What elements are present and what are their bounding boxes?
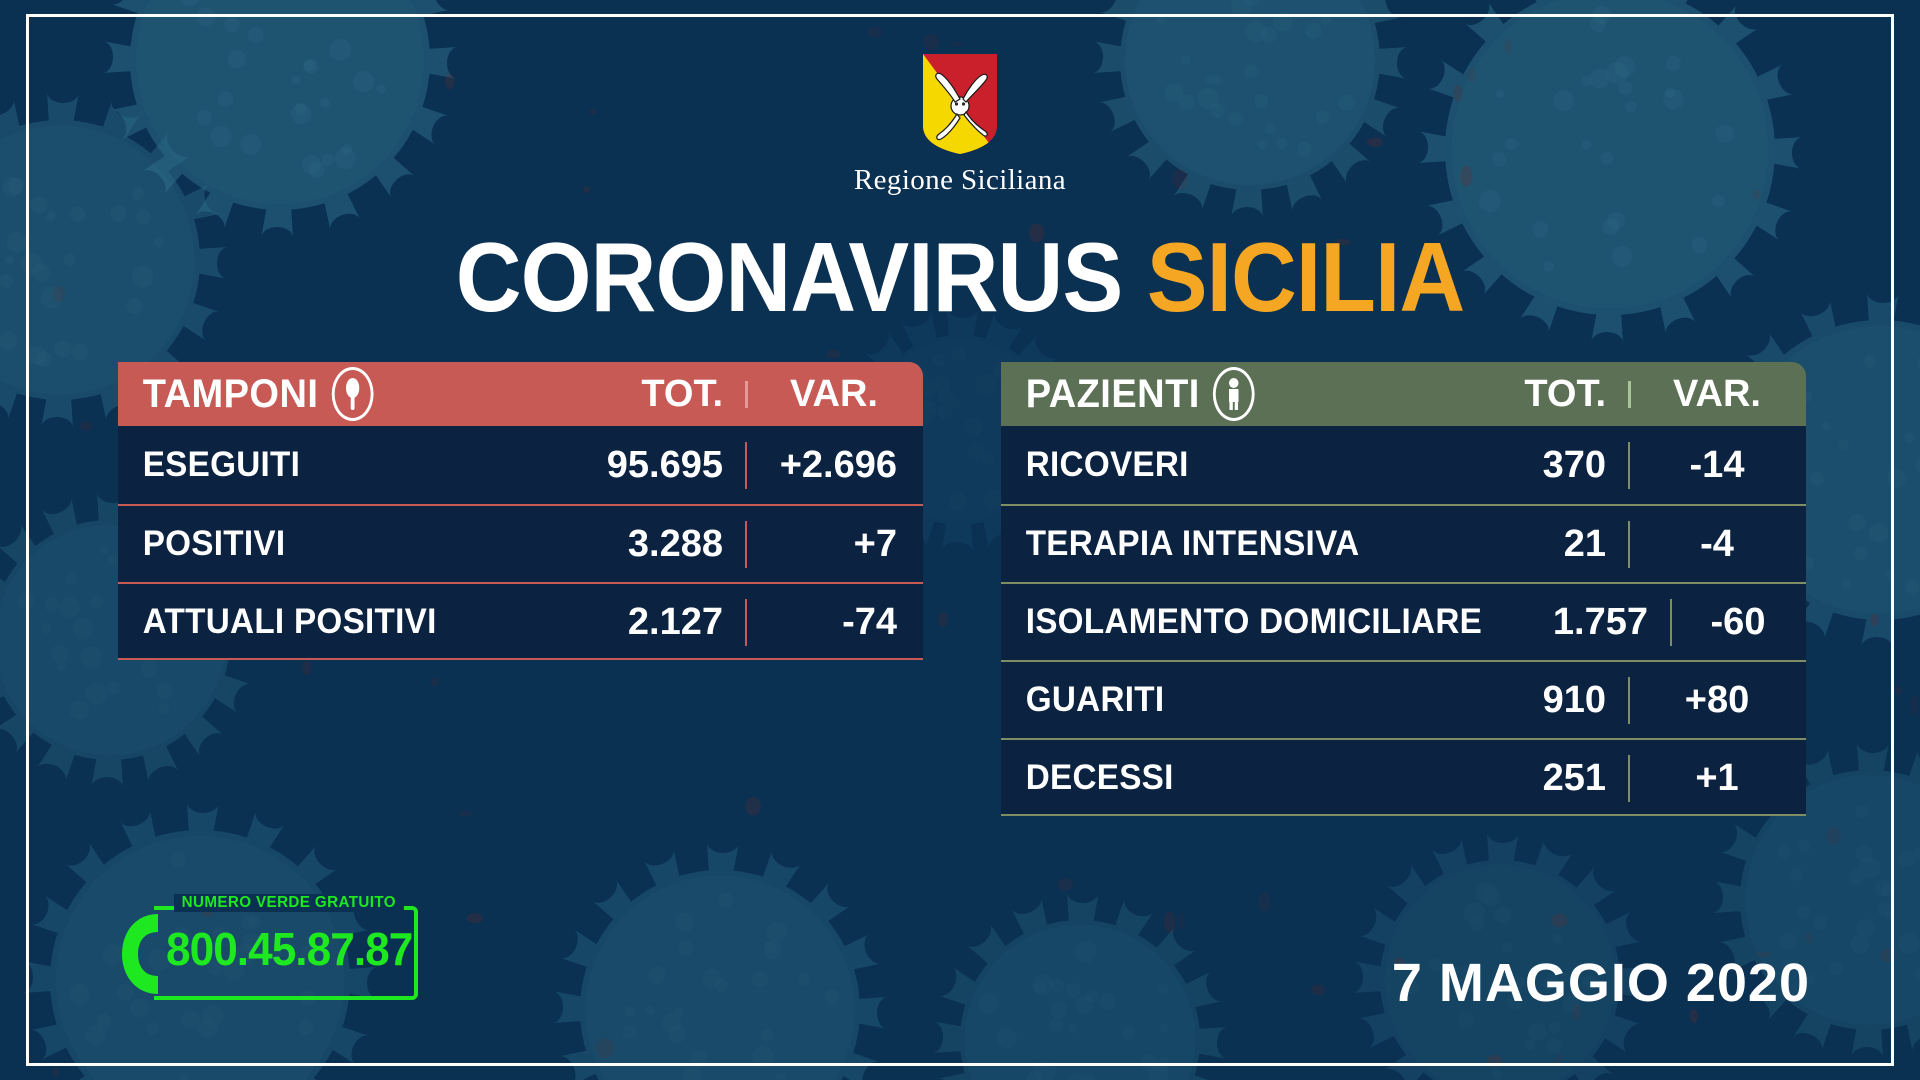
row-variation: -74 xyxy=(745,601,923,644)
row-total: 251 xyxy=(1422,757,1628,800)
table-row: POSITIVI 3.288 +7 xyxy=(118,504,923,582)
table-tamponi-col-var: VAR. xyxy=(745,373,923,416)
table-row: ESEGUITI 95.695 +2.696 xyxy=(118,426,923,504)
title-word-sicilia: SICILIA xyxy=(1147,222,1465,332)
row-label: GUARITI xyxy=(1001,680,1401,720)
row-variation: -14 xyxy=(1628,444,1806,487)
table-tamponi-body: ESEGUITI 95.695 +2.696 POSITIVI 3.288 +7… xyxy=(118,426,923,660)
swab-test-icon xyxy=(332,367,374,421)
table-row: ISOLAMENTO DOMICILIARE 1.757 -60 xyxy=(1001,582,1806,660)
row-variation: -60 xyxy=(1670,601,1806,644)
hotline-number[interactable]: 800.45.87.87 xyxy=(166,922,412,976)
row-total: 21 xyxy=(1422,523,1628,566)
infographic-page: Regione Siciliana CORONAVIRUS SICILIA TA… xyxy=(0,0,1920,1080)
row-label: ISOLAMENTO DOMICILIARE xyxy=(1001,602,1482,642)
table-tamponi-title: TAMPONI xyxy=(143,372,319,417)
table-tamponi-title-group: TAMPONI xyxy=(118,367,518,421)
row-label: ESEGUITI xyxy=(118,445,518,485)
table-pazienti-body: RICOVERI 370 -14 TERAPIA INTENSIVA 21 -4… xyxy=(1001,426,1806,816)
swab-test-icon-glyph xyxy=(345,377,360,411)
table-tamponi-header: TAMPONI TOT. VAR. xyxy=(118,362,923,426)
row-label: DECESSI xyxy=(1001,758,1401,798)
table-pazienti-col-var: VAR. xyxy=(1628,373,1806,416)
sicilian-trinacria-crest-icon xyxy=(921,52,999,156)
row-total: 1.757 xyxy=(1507,601,1670,644)
row-total: 370 xyxy=(1422,444,1628,487)
table-pazienti: PAZIENTI TOT. VAR. RICOVERI xyxy=(1001,362,1806,816)
table-pazienti-title: PAZIENTI xyxy=(1026,372,1200,417)
row-variation: +2.696 xyxy=(745,444,923,487)
statistics-tables: TAMPONI TOT. VAR. ESEGUITI 95.695 +2.696 xyxy=(118,362,1820,816)
table-row: ATTUALI POSITIVI 2.127 -74 xyxy=(118,582,923,660)
row-variation: +80 xyxy=(1628,679,1806,722)
table-pazienti-header: PAZIENTI TOT. VAR. xyxy=(1001,362,1806,426)
table-pazienti-col-total: TOT. xyxy=(1422,373,1628,416)
table-row: RICOVERI 370 -14 xyxy=(1001,426,1806,504)
report-date: 7 MAGGIO 2020 xyxy=(1392,952,1810,1014)
row-total: 95.695 xyxy=(539,444,745,487)
person-patient-icon-glyph xyxy=(1225,377,1242,411)
hotline-label: NUMERO VERDE GRATUITO xyxy=(174,894,404,912)
row-total: 910 xyxy=(1422,679,1628,722)
page-title: CORONAVIRUS SICILIA xyxy=(67,228,1853,326)
row-label: ATTUALI POSITIVI xyxy=(118,602,518,642)
person-patient-icon xyxy=(1213,367,1255,421)
row-total: 3.288 xyxy=(539,523,745,566)
row-label: RICOVERI xyxy=(1001,445,1401,485)
table-row: GUARITI 910 +80 xyxy=(1001,660,1806,738)
region-branding: Regione Siciliana xyxy=(0,52,1920,197)
row-label: TERAPIA INTENSIVA xyxy=(1001,524,1401,564)
table-row: TERAPIA INTENSIVA 21 -4 xyxy=(1001,504,1806,582)
table-tamponi: TAMPONI TOT. VAR. ESEGUITI 95.695 +2.696 xyxy=(118,362,923,816)
table-tamponi-col-total: TOT. xyxy=(539,373,745,416)
table-row: DECESSI 251 +1 xyxy=(1001,738,1806,816)
row-total: 2.127 xyxy=(539,601,745,644)
table-pazienti-title-group: PAZIENTI xyxy=(1001,367,1401,421)
hotline-box[interactable]: NUMERO VERDE GRATUITO 800.45.87.87 xyxy=(118,900,418,1000)
row-variation: +1 xyxy=(1628,757,1806,800)
region-name: Regione Siciliana xyxy=(854,164,1066,197)
row-variation: +7 xyxy=(745,523,923,566)
row-variation: -4 xyxy=(1628,523,1806,566)
title-word-coronavirus: CORONAVIRUS xyxy=(456,222,1123,332)
row-label: POSITIVI xyxy=(118,524,518,564)
